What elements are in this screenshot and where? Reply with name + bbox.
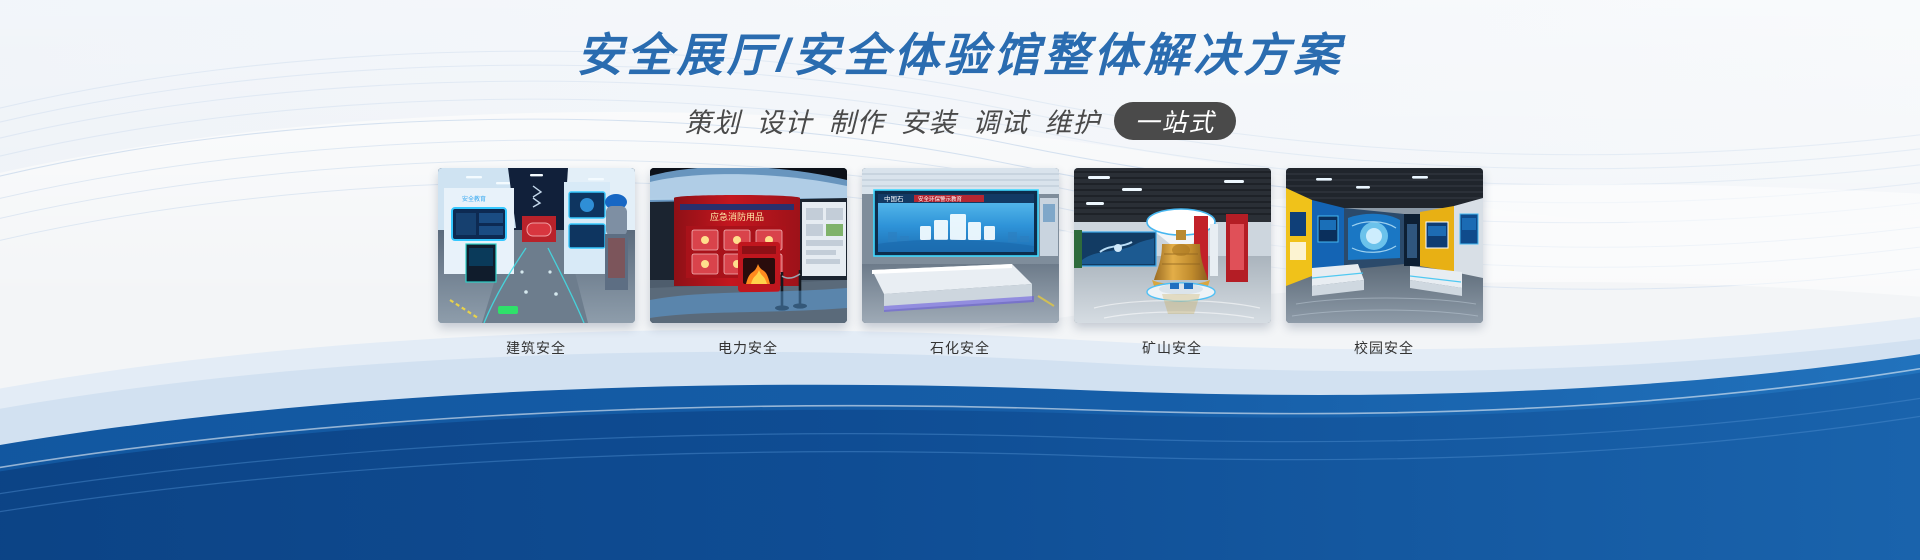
svg-text:安全环保警示教育: 安全环保警示教育 (918, 195, 963, 203)
service-steps: 策划 设计 制作 安装 调试 维护 (684, 101, 1100, 140)
card-thumbnail-mining[interactable] (1074, 168, 1271, 323)
card-caption: 矿山安全 (1074, 338, 1271, 358)
mining-hall-image (1074, 168, 1271, 323)
card-caption: 石化安全 (862, 338, 1059, 358)
svg-text:中国石: 中国石 (884, 194, 904, 203)
card-caption: 电力安全 (650, 338, 847, 358)
page-title: 安全展厅/安全体验馆整体解决方案 (0, 28, 1920, 83)
solution-card[interactable]: 校园安全 (1286, 168, 1483, 358)
service-step: 设计 (756, 101, 812, 140)
card-thumbnail-petrochemical[interactable]: 中国石 安全环保警示教育 (862, 168, 1059, 323)
svg-text:应急消防用品: 应急消防用品 (710, 211, 764, 222)
headline-block: 安全展厅/安全体验馆整体解决方案 策划 设计 制作 安装 调试 维护 一站式 (0, 0, 1920, 140)
one-stop-badge: 一站式 (1114, 102, 1235, 140)
campus-hall-image (1286, 168, 1483, 323)
card-thumbnail-construction[interactable]: 安全教育 (438, 168, 635, 323)
service-step: 维护 (1044, 101, 1100, 140)
svg-text:安全教育: 安全教育 (462, 195, 486, 203)
construction-hall-image: 安全教育 (438, 168, 635, 323)
card-thumbnail-electric[interactable]: 应急消防用品 (650, 168, 847, 323)
solution-card[interactable]: 中国石 安全环保警示教育 (862, 168, 1059, 358)
solution-card[interactable]: 安全教育 (438, 168, 635, 358)
card-caption: 建筑安全 (438, 338, 635, 358)
service-step: 调试 (972, 101, 1028, 140)
service-step: 安装 (900, 101, 956, 140)
service-step: 制作 (828, 101, 884, 140)
service-step: 策划 (684, 101, 740, 140)
electric-hall-image: 应急消防用品 (650, 168, 847, 323)
card-thumbnail-campus[interactable] (1286, 168, 1483, 323)
solution-card-list: 安全教育 (0, 168, 1920, 358)
card-caption: 校园安全 (1286, 338, 1483, 358)
solution-card[interactable]: 矿山安全 (1074, 168, 1271, 358)
subtitle-row: 策划 设计 制作 安装 调试 维护 一站式 (0, 101, 1920, 140)
petrochemical-hall-image: 中国石 安全环保警示教育 (862, 168, 1059, 323)
solution-card[interactable]: 应急消防用品 (650, 168, 847, 358)
safety-exhibition-banner: 安全展厅/安全体验馆整体解决方案 策划 设计 制作 安装 调试 维护 一站式 (0, 0, 1920, 560)
